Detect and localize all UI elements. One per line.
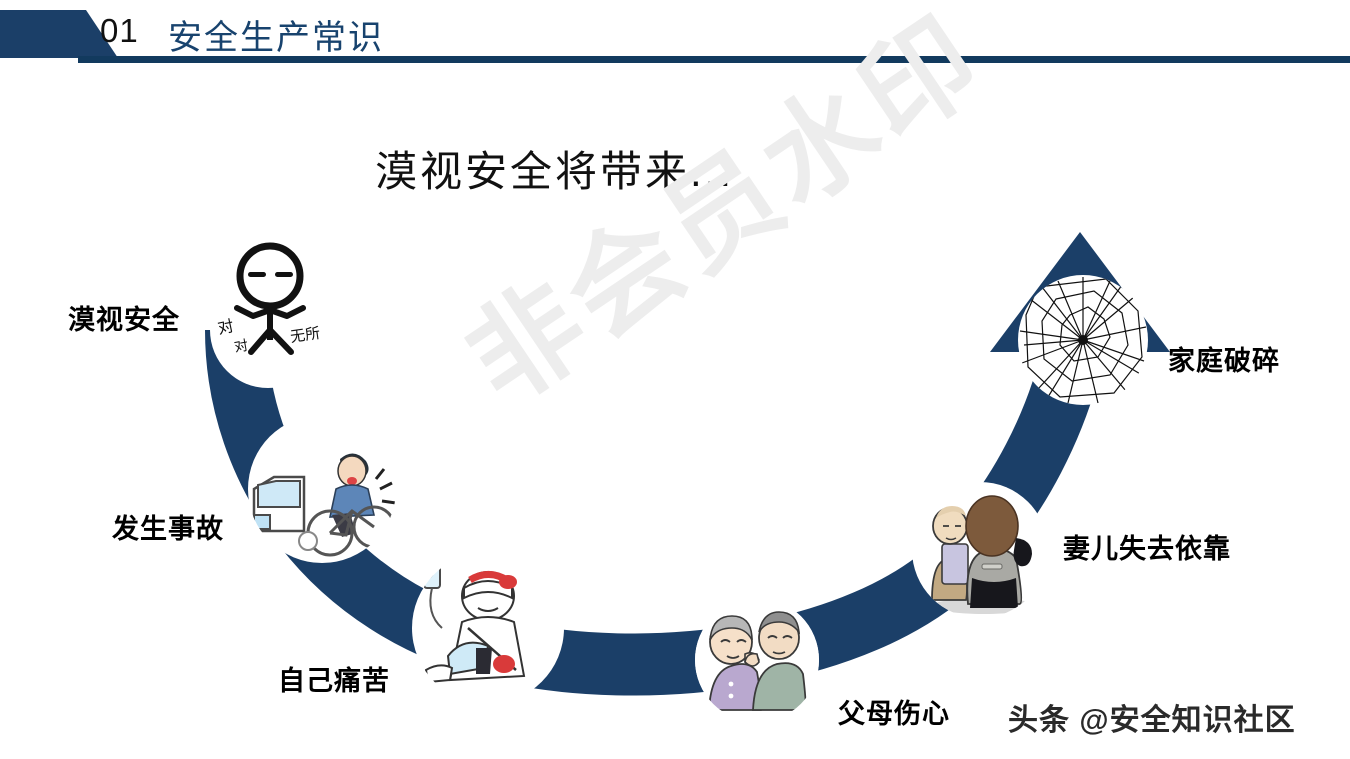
illustration-step-2 bbox=[248, 415, 396, 563]
illustration-step-5 bbox=[912, 482, 1048, 618]
corner-watermark: 头条 @安全知识社区 bbox=[1008, 695, 1296, 739]
process-flow-arc bbox=[0, 0, 1350, 759]
shattered-glass-icon bbox=[1018, 275, 1148, 405]
crying-elderly-couple-icon bbox=[695, 598, 819, 722]
step-label-2: 发生事故 bbox=[112, 507, 224, 546]
illustration-step-3 bbox=[412, 552, 564, 704]
bicycle-car-accident-icon bbox=[248, 415, 396, 563]
slide-canvas: 01 安全生产常识 漠视安全将带来... 非会员水印 bbox=[0, 0, 1350, 759]
step-label-6: 家庭破碎 bbox=[1168, 339, 1280, 378]
step-label-1: 漠视安全 bbox=[68, 298, 180, 337]
svg-text:对: 对 bbox=[216, 317, 235, 338]
illustration-step-6 bbox=[1018, 275, 1148, 405]
stick-figure-dismissive-icon: 对 对 无所 bbox=[207, 236, 333, 362]
step-label-5: 妻儿失去依靠 bbox=[1063, 527, 1231, 566]
illustration-step-4 bbox=[695, 598, 819, 722]
illustration-step-1: 对 对 无所 bbox=[207, 236, 333, 362]
injured-bandaged-person-icon bbox=[412, 552, 564, 704]
step-label-3: 自己痛苦 bbox=[278, 659, 390, 698]
step-label-4: 父母伤心 bbox=[838, 692, 950, 731]
mother-and-child-icon bbox=[912, 482, 1048, 618]
